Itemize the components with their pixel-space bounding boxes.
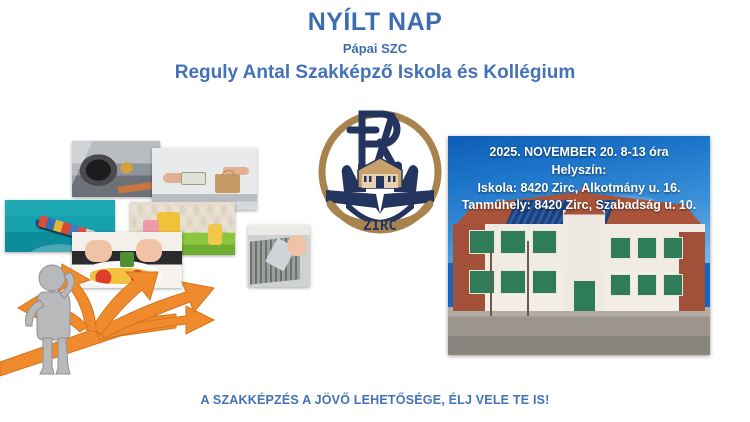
page-title: NYÍLT NAP — [0, 8, 750, 37]
logo-town-label: ZIRC — [363, 218, 397, 234]
school-name: Reguly Antal Szakképző Iskola és Kollégi… — [0, 62, 750, 85]
poster-canvas: NYÍLT NAP Pápai SZC Reguly Antal Szakkép… — [0, 0, 750, 422]
location-label: Helyszín: — [448, 162, 710, 180]
poster-header: NYÍLT NAP Pápai SZC Reguly Antal Szakkép… — [0, 8, 750, 84]
school-address: Iskola: 8420 Zirc, Alkotmány u. 16. — [448, 180, 710, 198]
tiling-trowel-photo: Építőipar — [248, 225, 310, 287]
footer-tagline: A SZAKKÉPZÉS A JÖVŐ LEHETŐSÉGE, ÉLJ VELE… — [0, 393, 750, 407]
event-info-panel: 2025. NOVEMBER 20. 8-13 óra Helyszín: Is… — [448, 136, 710, 355]
event-date-time: 2025. NOVEMBER 20. 8-13 óra — [448, 144, 710, 162]
school-logo: ZIRC — [306, 96, 454, 242]
person-choosing-path — [0, 258, 248, 388]
ground-pavement — [448, 307, 710, 355]
organization-name: Pápai SZC — [0, 42, 750, 57]
event-details-text: 2025. NOVEMBER 20. 8-13 óra Helyszín: Is… — [448, 144, 710, 215]
workshop-address: Tanműhely: 8420 Zirc, Szabadság u. 10. — [448, 197, 710, 215]
bare-tree-decoration — [527, 241, 529, 315]
retail-shopping-photo: Kereskedelem — [152, 148, 257, 210]
bare-tree-decoration — [490, 250, 492, 316]
cnc-machining-photo: CNC forgácsolás — [72, 141, 160, 197]
